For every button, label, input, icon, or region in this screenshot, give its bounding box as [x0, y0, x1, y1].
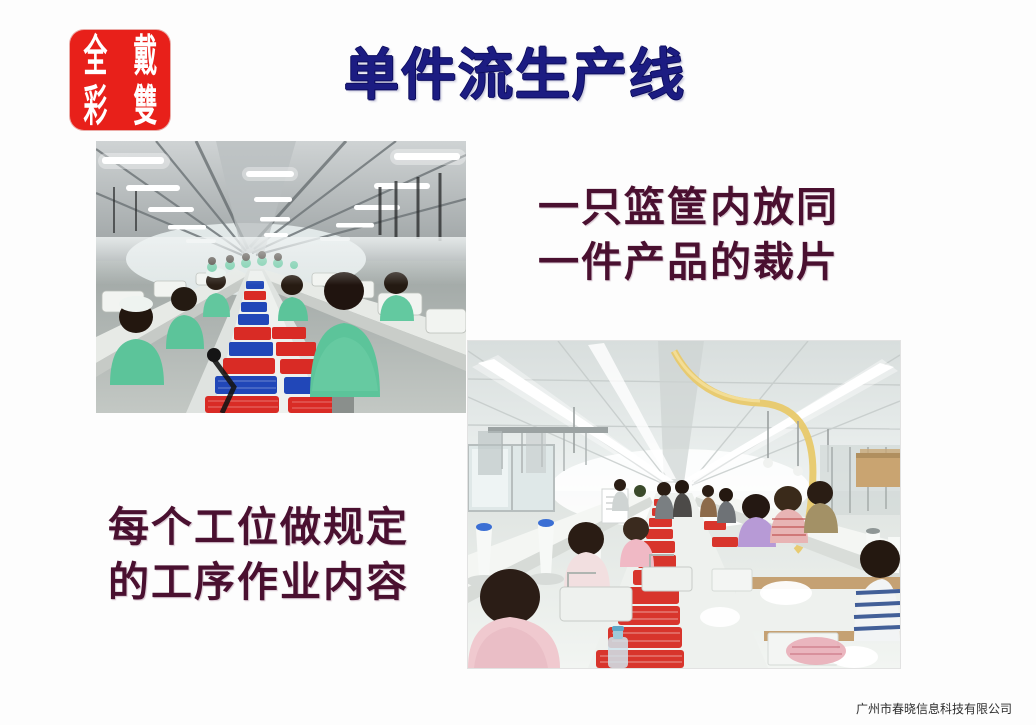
- slide-title: 单件流生产线: [300, 44, 730, 106]
- company-logo: 全 戴 彩 雙: [70, 30, 170, 130]
- slide-canvas: 全 戴 彩 雙 单件流生产线: [0, 0, 1036, 725]
- logo-character-grid: 全 戴 彩 雙: [70, 30, 170, 130]
- logo-character: 雙: [127, 72, 163, 130]
- photo-illustration: [468, 341, 900, 668]
- footer-company-name: 广州市春晓信息科技有限公司: [856, 701, 1012, 717]
- factory-photo-sewing-line-green-uniforms: [96, 141, 466, 413]
- caption-station-line2: 的工序作业内容: [108, 555, 409, 610]
- factory-photo-sewing-line-red-baskets: [468, 341, 900, 668]
- caption-basket-line2: 一件产品的裁片: [538, 235, 839, 290]
- caption-basket: 一只篮筐内放同 一件产品的裁片: [538, 180, 839, 290]
- caption-station-line1: 每个工位做规定: [108, 500, 409, 555]
- logo-character: 彩: [77, 72, 113, 130]
- caption-station: 每个工位做规定 的工序作业内容: [108, 500, 409, 610]
- caption-basket-line1: 一只篮筐内放同: [538, 180, 839, 235]
- photo-illustration: [96, 141, 466, 413]
